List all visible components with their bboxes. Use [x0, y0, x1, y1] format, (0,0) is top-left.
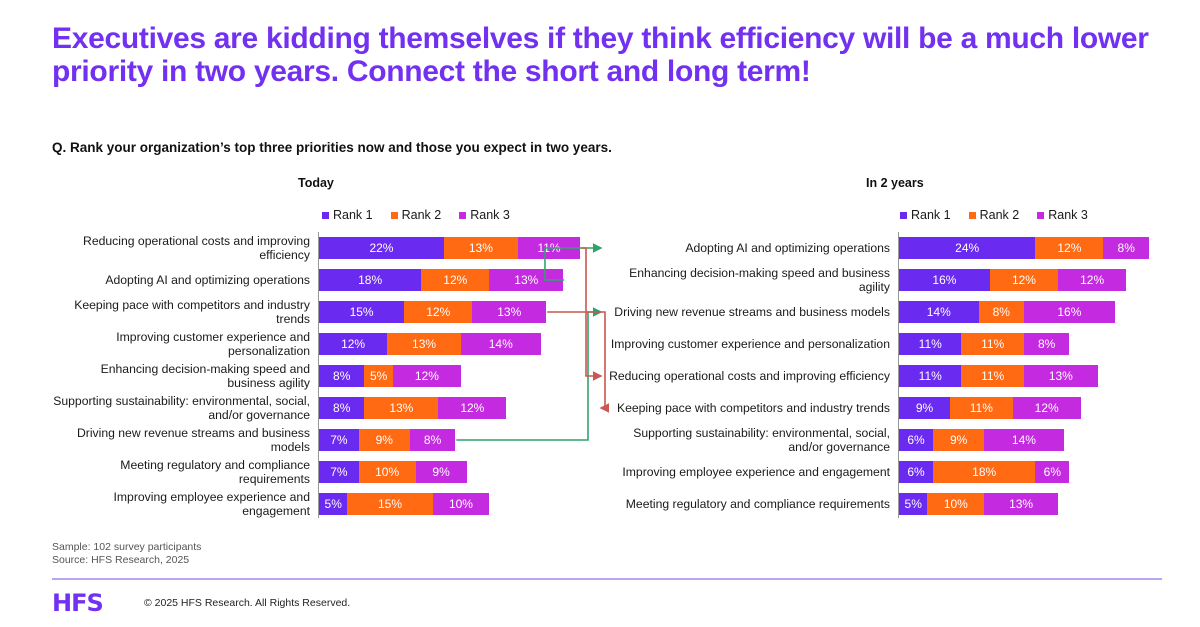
bar-segment-rank-3[interactable]: 13%	[984, 493, 1058, 515]
category-label: Adopting AI and optimizing operations	[52, 273, 310, 287]
bar-segment-rank-2[interactable]: 11%	[961, 333, 1023, 355]
bar-segment-rank-1[interactable]: 11%	[899, 365, 961, 387]
stacked-bar[interactable]: 5%10%13%	[899, 493, 1058, 515]
category-label: Improving customer experience and person…	[52, 330, 310, 358]
bar-segment-rank-1[interactable]: 12%	[319, 333, 387, 355]
legend-item-in-2-years-1[interactable]: Rank 1	[900, 208, 951, 222]
bar-segment-rank-3[interactable]: 12%	[438, 397, 506, 419]
stacked-bar[interactable]: 16%12%12%	[899, 269, 1126, 291]
bar-segment-rank-2[interactable]: 13%	[364, 397, 438, 419]
bar-segment-rank-1[interactable]: 8%	[319, 365, 364, 387]
square-swatch	[459, 212, 466, 219]
footer-divider	[52, 578, 1162, 580]
bar-segment-rank-2[interactable]: 11%	[950, 397, 1012, 419]
category-label: Meeting regulatory and compliance requir…	[604, 497, 890, 511]
stacked-bar[interactable]: 7%9%8%	[319, 429, 455, 451]
bar-segment-rank-3[interactable]: 13%	[472, 301, 546, 323]
legend-in-2-years: Rank 1Rank 2Rank 3	[900, 208, 1088, 222]
chart-row: Improving employee experience and engage…	[52, 488, 592, 520]
bar-segment-rank-1[interactable]: 8%	[319, 397, 364, 419]
legend-label: Rank 1	[911, 208, 951, 222]
legend-item-today-2[interactable]: Rank 2	[391, 208, 442, 222]
category-label: Supporting sustainability: environmental…	[604, 426, 890, 454]
square-swatch	[969, 212, 976, 219]
hfs-logo: HFS	[52, 589, 103, 617]
legend-item-in-2-years-2[interactable]: Rank 2	[969, 208, 1020, 222]
bar-segment-rank-2[interactable]: 15%	[347, 493, 432, 515]
copyright-text: © 2025 HFS Research. All Rights Reserved…	[144, 597, 350, 609]
bar-segment-rank-2[interactable]: 12%	[1035, 237, 1103, 259]
category-label: Driving new revenue streams and business…	[604, 305, 890, 319]
bar-segment-rank-1[interactable]: 7%	[319, 461, 359, 483]
stacked-bar[interactable]: 7%10%9%	[319, 461, 467, 483]
chart-row: Driving new revenue streams and business…	[604, 296, 1164, 328]
category-label: Keeping pace with competitors and indust…	[604, 401, 890, 415]
bar-segment-rank-3[interactable]: 9%	[416, 461, 467, 483]
bar-segment-rank-1[interactable]: 9%	[899, 397, 950, 419]
chart-panel-today: Reducing operational costs and improving…	[52, 232, 592, 522]
bar-segment-rank-3[interactable]: 6%	[1035, 461, 1069, 483]
panel-header-in-2-years: In 2 years	[866, 176, 924, 190]
bar-segment-rank-2[interactable]: 11%	[961, 365, 1023, 387]
bar-segment-rank-2[interactable]: 18%	[933, 461, 1035, 483]
stacked-bar[interactable]: 24%12%8%	[899, 237, 1149, 259]
bar-segment-rank-2[interactable]: 10%	[927, 493, 984, 515]
bar-segment-rank-1[interactable]: 16%	[899, 269, 990, 291]
stacked-bar[interactable]: 15%12%13%	[319, 301, 546, 323]
legend-label: Rank 1	[333, 208, 373, 222]
chart-row: Meeting regulatory and compliance requir…	[52, 456, 592, 488]
square-swatch	[391, 212, 398, 219]
bar-segment-rank-3[interactable]: 8%	[410, 429, 455, 451]
stacked-bar[interactable]: 6%9%14%	[899, 429, 1064, 451]
bar-segment-rank-3[interactable]: 12%	[393, 365, 461, 387]
category-label: Adopting AI and optimizing operations	[604, 241, 890, 255]
bar-segment-rank-3[interactable]: 11%	[518, 237, 580, 259]
bar-segment-rank-1[interactable]: 7%	[319, 429, 359, 451]
square-swatch	[322, 212, 329, 219]
stacked-bar[interactable]: 11%11%8%	[899, 333, 1069, 355]
legend-label: Rank 3	[1048, 208, 1088, 222]
bar-segment-rank-2[interactable]: 12%	[421, 269, 489, 291]
category-label: Improving customer experience and person…	[604, 337, 890, 351]
bar-segment-rank-1[interactable]: 6%	[899, 461, 933, 483]
chart-row: Improving customer experience and person…	[604, 328, 1164, 360]
slide-canvas: Executives are kidding themselves if the…	[0, 0, 1200, 627]
category-label: Improving employee experience and engage…	[52, 490, 310, 518]
bar-segment-rank-2[interactable]: 13%	[387, 333, 461, 355]
chart-row: Enhancing decision-making speed and busi…	[52, 360, 592, 392]
bar-segment-rank-1[interactable]: 6%	[899, 429, 933, 451]
legend-today: Rank 1Rank 2Rank 3	[322, 208, 510, 222]
chart-row: Keeping pace with competitors and indust…	[604, 392, 1164, 424]
bar-segment-rank-1[interactable]: 24%	[899, 237, 1035, 259]
legend-item-in-2-years-3[interactable]: Rank 3	[1037, 208, 1088, 222]
chart-panel-in-2-years: Adopting AI and optimizing operations24%…	[604, 232, 1164, 522]
bar-segment-rank-3[interactable]: 12%	[1013, 397, 1081, 419]
bar-segment-rank-2[interactable]: 9%	[933, 429, 984, 451]
stacked-bar[interactable]: 8%13%12%	[319, 397, 506, 419]
chart-row: Reducing operational costs and improving…	[604, 360, 1164, 392]
chart-row: Keeping pace with competitors and indust…	[52, 296, 592, 328]
legend-label: Rank 2	[402, 208, 442, 222]
bar-segment-rank-3[interactable]: 14%	[461, 333, 541, 355]
panel-header-today: Today	[298, 176, 334, 190]
bar-segment-rank-3[interactable]: 12%	[1058, 269, 1126, 291]
bar-segment-rank-2[interactable]: 5%	[364, 365, 392, 387]
stacked-bar[interactable]: 5%15%10%	[319, 493, 489, 515]
category-label: Enhancing decision-making speed and busi…	[52, 362, 310, 390]
legend-item-today-3[interactable]: Rank 3	[459, 208, 510, 222]
square-swatch	[1037, 212, 1044, 219]
chart-row: Improving employee experience and engage…	[604, 456, 1164, 488]
chart-row: Enhancing decision-making speed and busi…	[604, 264, 1164, 296]
category-label: Supporting sustainability: environmental…	[52, 394, 310, 422]
stacked-bar[interactable]: 11%11%13%	[899, 365, 1098, 387]
bar-segment-rank-3[interactable]: 8%	[1024, 333, 1069, 355]
bar-segment-rank-3[interactable]: 14%	[984, 429, 1064, 451]
bar-segment-rank-3[interactable]: 13%	[489, 269, 563, 291]
bar-segment-rank-2[interactable]: 10%	[359, 461, 416, 483]
bar-segment-rank-2[interactable]: 12%	[990, 269, 1058, 291]
chart-row: Supporting sustainability: environmental…	[52, 392, 592, 424]
stacked-bar[interactable]: 14%8%16%	[899, 301, 1115, 323]
category-label: Keeping pace with competitors and indust…	[52, 298, 310, 326]
legend-label: Rank 2	[980, 208, 1020, 222]
category-label: Reducing operational costs and improving…	[52, 234, 310, 262]
bar-segment-rank-1[interactable]: 18%	[319, 269, 421, 291]
stacked-bar[interactable]: 22%13%11%	[319, 237, 580, 259]
bar-segment-rank-1[interactable]: 14%	[899, 301, 979, 323]
bar-segment-rank-2[interactable]: 9%	[359, 429, 410, 451]
bar-segment-rank-3[interactable]: 10%	[433, 493, 490, 515]
stacked-bar[interactable]: 9%11%12%	[899, 397, 1081, 419]
bar-segment-rank-1[interactable]: 11%	[899, 333, 961, 355]
square-swatch	[900, 212, 907, 219]
legend-item-today-1[interactable]: Rank 1	[322, 208, 373, 222]
legend-label: Rank 3	[470, 208, 510, 222]
bar-segment-rank-1[interactable]: 15%	[319, 301, 404, 323]
chart-row: Adopting AI and optimizing operations24%…	[604, 232, 1164, 264]
source-line: Source: HFS Research, 2025	[52, 554, 201, 567]
stacked-bar[interactable]: 6%18%6%	[899, 461, 1069, 483]
category-label: Driving new revenue streams and business…	[52, 426, 310, 454]
page-title: Executives are kidding themselves if the…	[52, 22, 1162, 88]
category-label: Improving employee experience and engage…	[604, 465, 890, 479]
category-label: Enhancing decision-making speed and busi…	[604, 266, 890, 294]
stacked-bar[interactable]: 8%5%12%	[319, 365, 461, 387]
bar-segment-rank-3[interactable]: 16%	[1024, 301, 1115, 323]
chart-row: Meeting regulatory and compliance requir…	[604, 488, 1164, 520]
stacked-bar[interactable]: 18%12%13%	[319, 269, 563, 291]
chart-row: Adopting AI and optimizing operations18%…	[52, 264, 592, 296]
bar-segment-rank-1[interactable]: 22%	[319, 237, 444, 259]
source-note: Sample: 102 survey participants Source: …	[52, 541, 201, 567]
chart-row: Reducing operational costs and improving…	[52, 232, 592, 264]
bar-segment-rank-3[interactable]: 8%	[1103, 237, 1148, 259]
bar-segment-rank-2[interactable]: 8%	[979, 301, 1024, 323]
question-text: Q. Rank your organization’s top three pr…	[52, 140, 1152, 155]
bar-segment-rank-3[interactable]: 13%	[1024, 365, 1098, 387]
bar-segment-rank-2[interactable]: 13%	[444, 237, 518, 259]
chart-row: Driving new revenue streams and business…	[52, 424, 592, 456]
category-label: Meeting regulatory and compliance requir…	[52, 458, 310, 486]
bar-segment-rank-1[interactable]: 5%	[899, 493, 927, 515]
bar-segment-rank-2[interactable]: 12%	[404, 301, 472, 323]
stacked-bar[interactable]: 12%13%14%	[319, 333, 541, 355]
category-label: Reducing operational costs and improving…	[604, 369, 890, 383]
bar-segment-rank-1[interactable]: 5%	[319, 493, 347, 515]
chart-row: Improving customer experience and person…	[52, 328, 592, 360]
chart-row: Supporting sustainability: environmental…	[604, 424, 1164, 456]
sample-line: Sample: 102 survey participants	[52, 541, 201, 554]
